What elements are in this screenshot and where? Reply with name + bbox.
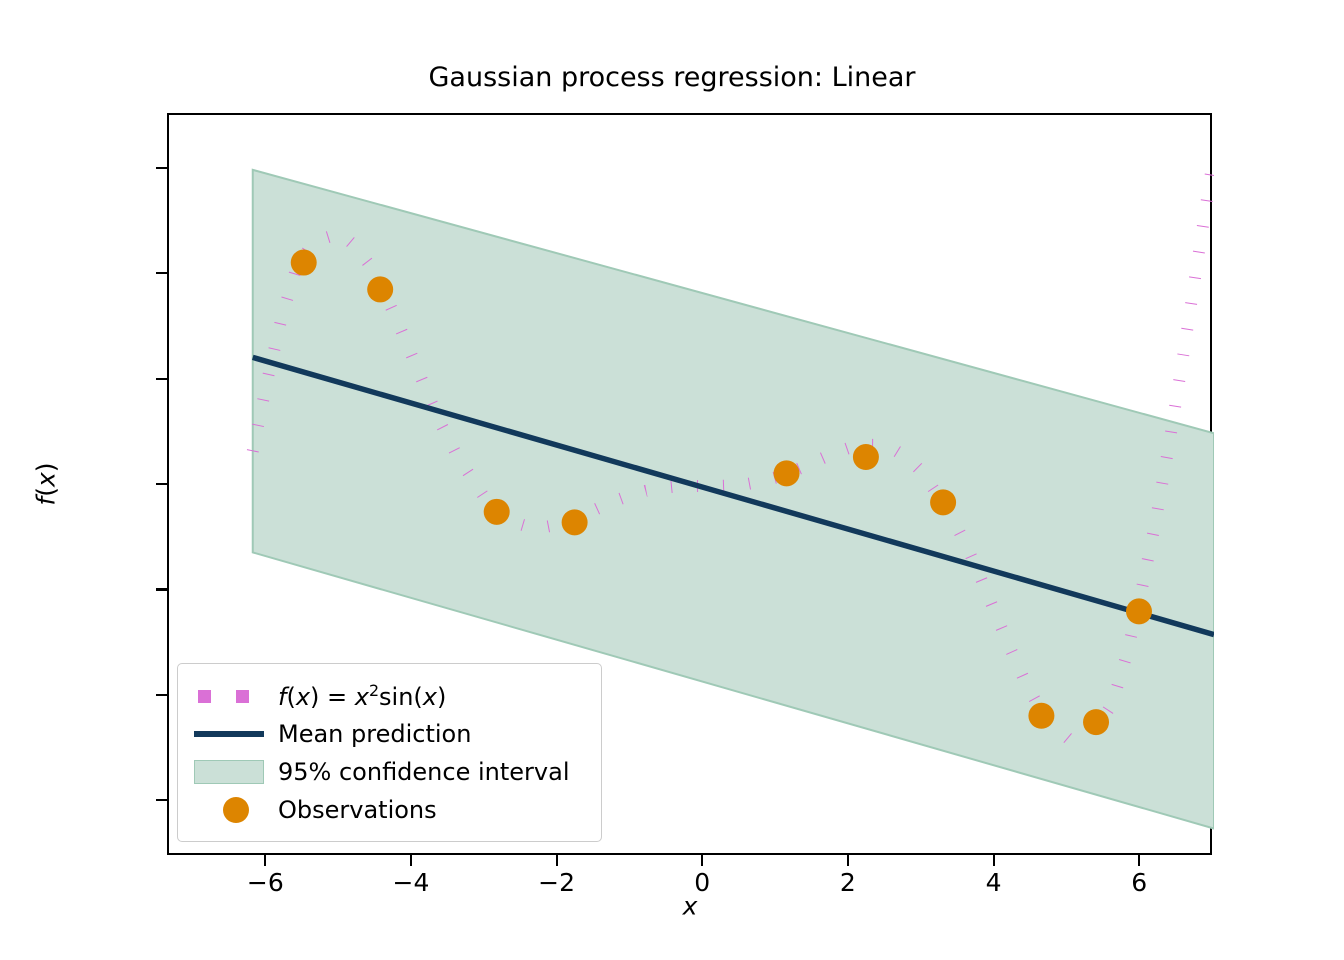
legend-swatch-band-patch: [192, 757, 266, 787]
chart-legend[interactable]: f(x) = x2sin(x)Mean prediction95% confid…: [177, 663, 602, 842]
observation-point: [367, 276, 393, 302]
matplotlib-figure: Gaussian process regression: Linear −30−…: [0, 0, 1344, 960]
y-tick-mark: [156, 694, 167, 696]
x-tick-mark: [410, 855, 412, 866]
x-tick-mark: [1138, 855, 1140, 866]
y-tick-mark: [156, 272, 167, 274]
x-tick-label: 6: [1131, 868, 1147, 897]
legend-item[interactable]: Mean prediction: [192, 715, 587, 753]
x-tick-mark: [701, 855, 703, 866]
x-tick-mark: [993, 855, 995, 866]
chart-title: Gaussian process regression: Linear: [0, 62, 1344, 93]
legend-item[interactable]: f(x) = x2sin(x): [192, 677, 587, 715]
x-tick-label: −2: [538, 868, 575, 897]
y-tick-mark: [156, 378, 167, 380]
x-tick-label: −6: [247, 868, 284, 897]
y-tick-mark: [156, 588, 167, 590]
y-tick-mark: [156, 799, 167, 801]
observation-point: [1126, 598, 1152, 624]
legend-swatch-marker-dot: [192, 795, 266, 825]
observation-point: [562, 509, 588, 535]
observation-point: [291, 250, 317, 276]
observation-point: [930, 489, 956, 515]
legend-swatch-dotted-line: [192, 681, 266, 711]
legend-item[interactable]: 95% confidence interval: [192, 753, 587, 791]
y-tick-mark: [156, 483, 167, 485]
x-tick-label: 2: [840, 868, 856, 897]
x-tick-label: 4: [986, 868, 1002, 897]
x-axis-label: x: [683, 892, 698, 921]
legend-item-label: Observations: [278, 798, 437, 822]
legend-item-label: f(x) = x2sin(x): [278, 683, 446, 709]
legend-item[interactable]: Observations: [192, 791, 587, 829]
y-axis-label: f(x): [32, 462, 61, 505]
observation-point: [774, 460, 800, 486]
x-tick-mark: [556, 855, 558, 866]
y-tick-mark: [156, 167, 167, 169]
legend-item-label: Mean prediction: [278, 722, 471, 746]
legend-swatch-solid-line: [192, 719, 266, 749]
legend-item-label: 95% confidence interval: [278, 760, 569, 784]
observation-point: [853, 444, 879, 470]
x-tick-mark: [264, 855, 266, 866]
observation-point: [1028, 703, 1054, 729]
x-tick-label: −4: [393, 868, 430, 897]
x-tick-mark: [847, 855, 849, 866]
observation-point: [484, 499, 510, 525]
observation-point: [1083, 709, 1109, 735]
